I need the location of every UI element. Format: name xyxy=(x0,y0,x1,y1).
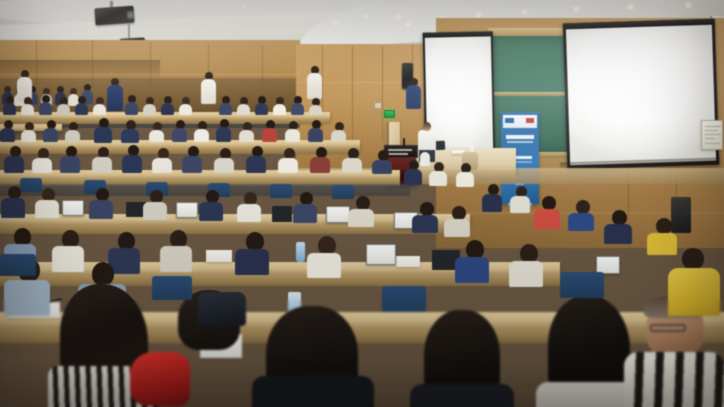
attendee-body xyxy=(65,130,80,142)
wall-seam xyxy=(382,46,383,142)
attendee-body xyxy=(331,130,346,142)
ceiling-downlight xyxy=(404,22,412,27)
attendee-body xyxy=(160,246,192,272)
ceiling-downlight xyxy=(684,2,693,8)
attendee-laptop[interactable] xyxy=(62,200,84,216)
attendee-body xyxy=(32,158,52,173)
attendee-laptop[interactable] xyxy=(366,244,396,265)
attendee-head xyxy=(612,210,627,225)
attendee-body xyxy=(308,128,323,142)
attendee-body xyxy=(237,204,261,222)
projector-mount xyxy=(128,24,130,38)
wall-seam xyxy=(36,40,37,90)
screen-highlight xyxy=(566,25,716,166)
attendee-body xyxy=(239,130,254,142)
attendee-body xyxy=(219,103,232,115)
seat-back xyxy=(560,272,604,298)
attendee-body xyxy=(92,157,112,173)
attendee-body xyxy=(604,224,632,244)
attendee-body xyxy=(143,202,167,220)
seat-back xyxy=(0,254,36,276)
attendee-head xyxy=(356,196,370,210)
attendee-body xyxy=(237,104,250,115)
banner-logo-left xyxy=(505,118,514,123)
attendee-body xyxy=(307,253,341,278)
notice-text-line xyxy=(705,134,721,135)
attendee-body xyxy=(182,156,202,173)
attendee-body xyxy=(291,103,304,115)
wall-seam xyxy=(92,40,93,88)
table-glass xyxy=(470,145,474,152)
attendee-body xyxy=(21,104,34,115)
attendee-body xyxy=(4,280,50,316)
presenter-head xyxy=(423,122,431,131)
attendee-body xyxy=(43,128,58,142)
attendee-body xyxy=(568,213,594,231)
ceiling-downlight xyxy=(572,6,581,12)
standing-attendee-body xyxy=(307,73,322,99)
wall-seam xyxy=(150,42,151,86)
attendee-laptop[interactable] xyxy=(326,206,350,223)
attendee-body xyxy=(161,103,174,115)
attendee-head xyxy=(452,206,466,220)
foreground-yellow-shirt-body xyxy=(668,268,720,316)
attendee-body xyxy=(1,198,25,218)
wall-notice xyxy=(701,120,723,150)
attendee-body xyxy=(143,104,156,115)
attendee-body xyxy=(410,384,514,407)
attendee-body xyxy=(3,103,16,115)
attendee-body xyxy=(456,172,474,187)
attendee-body xyxy=(348,209,374,227)
attendee-body xyxy=(152,158,172,173)
lectern-microphone xyxy=(403,138,405,147)
attendee-body xyxy=(0,128,15,142)
ceiling-downlight xyxy=(40,4,49,10)
attendee-body xyxy=(21,130,36,142)
ceiling-downlight xyxy=(520,9,529,15)
attendee-body xyxy=(93,104,106,115)
desk-paper xyxy=(396,256,420,267)
foreground-yellow-shirt-head xyxy=(682,248,704,270)
projector-lens xyxy=(127,11,135,19)
attendee-body xyxy=(199,202,223,221)
attendee-body xyxy=(309,105,322,115)
attendee-body xyxy=(285,129,300,142)
attendee-body xyxy=(273,104,286,115)
ceiling-downlight xyxy=(330,20,340,26)
attendee-body xyxy=(235,249,269,275)
wall-seam xyxy=(262,46,263,86)
attendee-body xyxy=(412,215,438,233)
desk-paper xyxy=(206,250,232,262)
notice-text-line xyxy=(705,130,718,131)
attendee-body xyxy=(75,103,88,115)
attendee-head xyxy=(542,196,556,210)
wall-seam xyxy=(352,46,353,152)
attendee-body xyxy=(179,104,192,115)
backpack xyxy=(198,292,246,326)
attendee-body xyxy=(509,261,543,287)
wall-plate xyxy=(374,102,382,109)
notice-text-line xyxy=(705,143,720,144)
ceiling-downlight xyxy=(362,14,370,19)
attendee-body xyxy=(121,129,139,143)
attendee-body xyxy=(246,156,266,173)
banner-subline xyxy=(507,141,533,143)
attendee-body xyxy=(444,219,470,237)
foreground-man-glasses-body xyxy=(624,352,724,407)
nameplate-text-line xyxy=(388,149,412,151)
attendee-standing-left-body xyxy=(420,152,430,166)
attendee-body xyxy=(647,233,677,255)
attendee-body xyxy=(89,200,113,219)
attendee-body xyxy=(510,196,530,213)
attendee-head xyxy=(420,202,434,216)
attendee-body xyxy=(404,169,422,185)
foreground-ponytail-body xyxy=(252,376,374,407)
attendee-body xyxy=(310,157,330,173)
attendee-body xyxy=(214,158,234,173)
foreground-woman-red-jacket xyxy=(130,352,190,406)
attendee-body xyxy=(94,127,112,143)
attendee-body xyxy=(4,156,24,173)
ceiling-downlight xyxy=(176,3,184,8)
banner-header xyxy=(503,115,537,128)
attendee-body xyxy=(482,194,502,212)
attendee-body xyxy=(149,130,164,142)
seat-back xyxy=(20,178,42,192)
attendee-body xyxy=(57,104,70,115)
seat-back xyxy=(382,286,426,312)
attendee-head xyxy=(656,218,672,234)
attendee-body xyxy=(35,200,59,218)
attendee-body xyxy=(429,171,447,186)
notice-text-line xyxy=(705,126,721,127)
attendee-head xyxy=(576,200,590,214)
attendee-body xyxy=(122,155,142,173)
attendee-body xyxy=(534,209,560,229)
desk-row-front xyxy=(0,148,360,154)
wall-seam xyxy=(0,74,300,75)
attendee-body xyxy=(172,128,187,142)
seat-back xyxy=(270,184,292,198)
attendee-body xyxy=(293,204,317,223)
attendee-head xyxy=(92,262,114,286)
eyeglasses-icon xyxy=(650,324,686,332)
attendee-body xyxy=(372,160,392,174)
attendee-body xyxy=(60,156,80,173)
standing-attendee-body xyxy=(406,85,421,109)
attendee-body xyxy=(216,127,231,142)
attendee-body xyxy=(194,129,209,142)
projection-screen-right xyxy=(563,19,720,170)
seat-back xyxy=(332,185,354,199)
attendee-body xyxy=(125,102,138,115)
attendee-body xyxy=(255,103,268,115)
attendee-body xyxy=(278,158,298,173)
ceiling-downlight xyxy=(626,4,635,10)
standing-attendee-body xyxy=(201,79,216,104)
banner-headline xyxy=(506,135,534,139)
notice-text-line xyxy=(705,138,715,139)
ceiling-downlight xyxy=(394,14,403,20)
water-bottle xyxy=(296,242,305,262)
nameplate-text-line xyxy=(388,153,408,155)
attendee-laptop[interactable] xyxy=(272,206,292,222)
ceiling-downlight xyxy=(240,4,248,9)
attendee-body xyxy=(52,246,84,272)
attendee-body xyxy=(342,158,362,173)
attendee-body xyxy=(262,128,277,142)
exit-sign xyxy=(384,110,395,118)
attendee-laptop[interactable] xyxy=(176,202,198,218)
attendee-body xyxy=(39,102,52,115)
lecture-hall-photograph: Wide interior photograph taken from the … xyxy=(0,0,724,407)
attendee-body xyxy=(455,257,489,283)
lectern-nameplate xyxy=(384,145,418,158)
seat-back xyxy=(152,276,192,300)
banner-logo-right xyxy=(526,118,534,123)
standing-attendee-back-left-body xyxy=(107,85,123,111)
